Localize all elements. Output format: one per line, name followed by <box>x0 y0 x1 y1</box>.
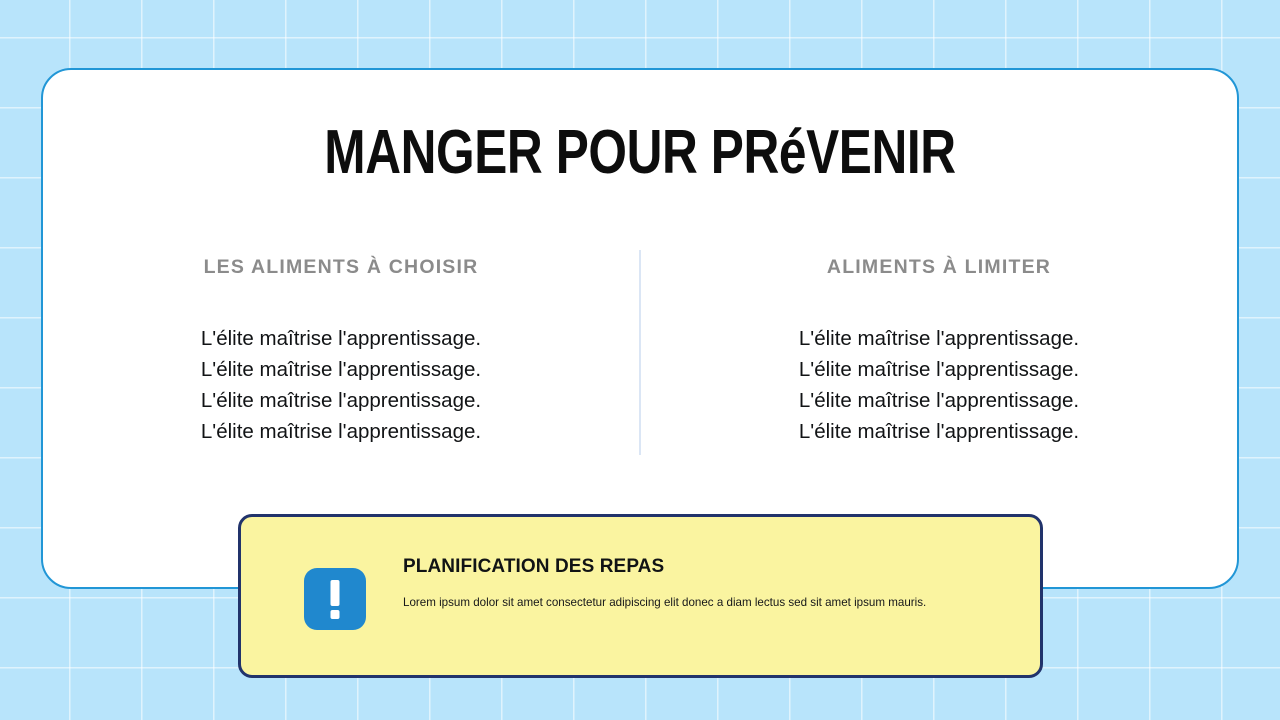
callout-text-group: PLANIFICATION DES REPAS Lorem ipsum dolo… <box>403 553 695 610</box>
list-item: L'élite maîtrise l'apprentissage. <box>641 416 1237 447</box>
list-item: L'élite maîtrise l'apprentissage. <box>641 323 1237 354</box>
page-title-main: MANGER POUR PR <box>324 118 779 187</box>
callout-box: PLANIFICATION DES REPAS Lorem ipsum dolo… <box>238 514 1043 678</box>
column-heading-left: LES ALIMENTS À CHOISIR <box>43 250 639 278</box>
list-item: L'élite maîtrise l'apprentissage. <box>43 385 639 416</box>
column-foods-to-limit: ALIMENTS À LIMITER L'élite maîtrise l'ap… <box>641 250 1237 447</box>
page-title-accent: é <box>779 118 806 187</box>
column-list-left: L'élite maîtrise l'apprentissage. L'élit… <box>43 323 639 447</box>
page-title-tail: VENIR <box>806 118 956 187</box>
exclamation-icon <box>304 568 366 630</box>
callout-body: Lorem ipsum dolor sit amet consectetur a… <box>403 595 963 610</box>
page-title: MANGER POUR PRéVENIR <box>162 122 1117 184</box>
exclamation-dot <box>331 610 340 619</box>
list-item: L'élite maîtrise l'apprentissage. <box>641 354 1237 385</box>
callout-title: PLANIFICATION DES REPAS <box>403 553 695 580</box>
slide-card: MANGER POUR PRéVENIR LES ALIMENTS À CHOI… <box>41 68 1239 589</box>
exclamation-stem <box>331 580 340 606</box>
comparison-columns: LES ALIMENTS À CHOISIR L'élite maîtrise … <box>43 250 1237 455</box>
list-item: L'élite maîtrise l'apprentissage. <box>43 354 639 385</box>
column-list-right: L'élite maîtrise l'apprentissage. L'élit… <box>641 323 1237 447</box>
list-item: L'élite maîtrise l'apprentissage. <box>43 323 639 354</box>
list-item: L'élite maîtrise l'apprentissage. <box>43 416 639 447</box>
column-heading-right: ALIMENTS À LIMITER <box>641 250 1237 278</box>
column-foods-to-choose: LES ALIMENTS À CHOISIR L'élite maîtrise … <box>43 250 639 447</box>
list-item: L'élite maîtrise l'apprentissage. <box>641 385 1237 416</box>
